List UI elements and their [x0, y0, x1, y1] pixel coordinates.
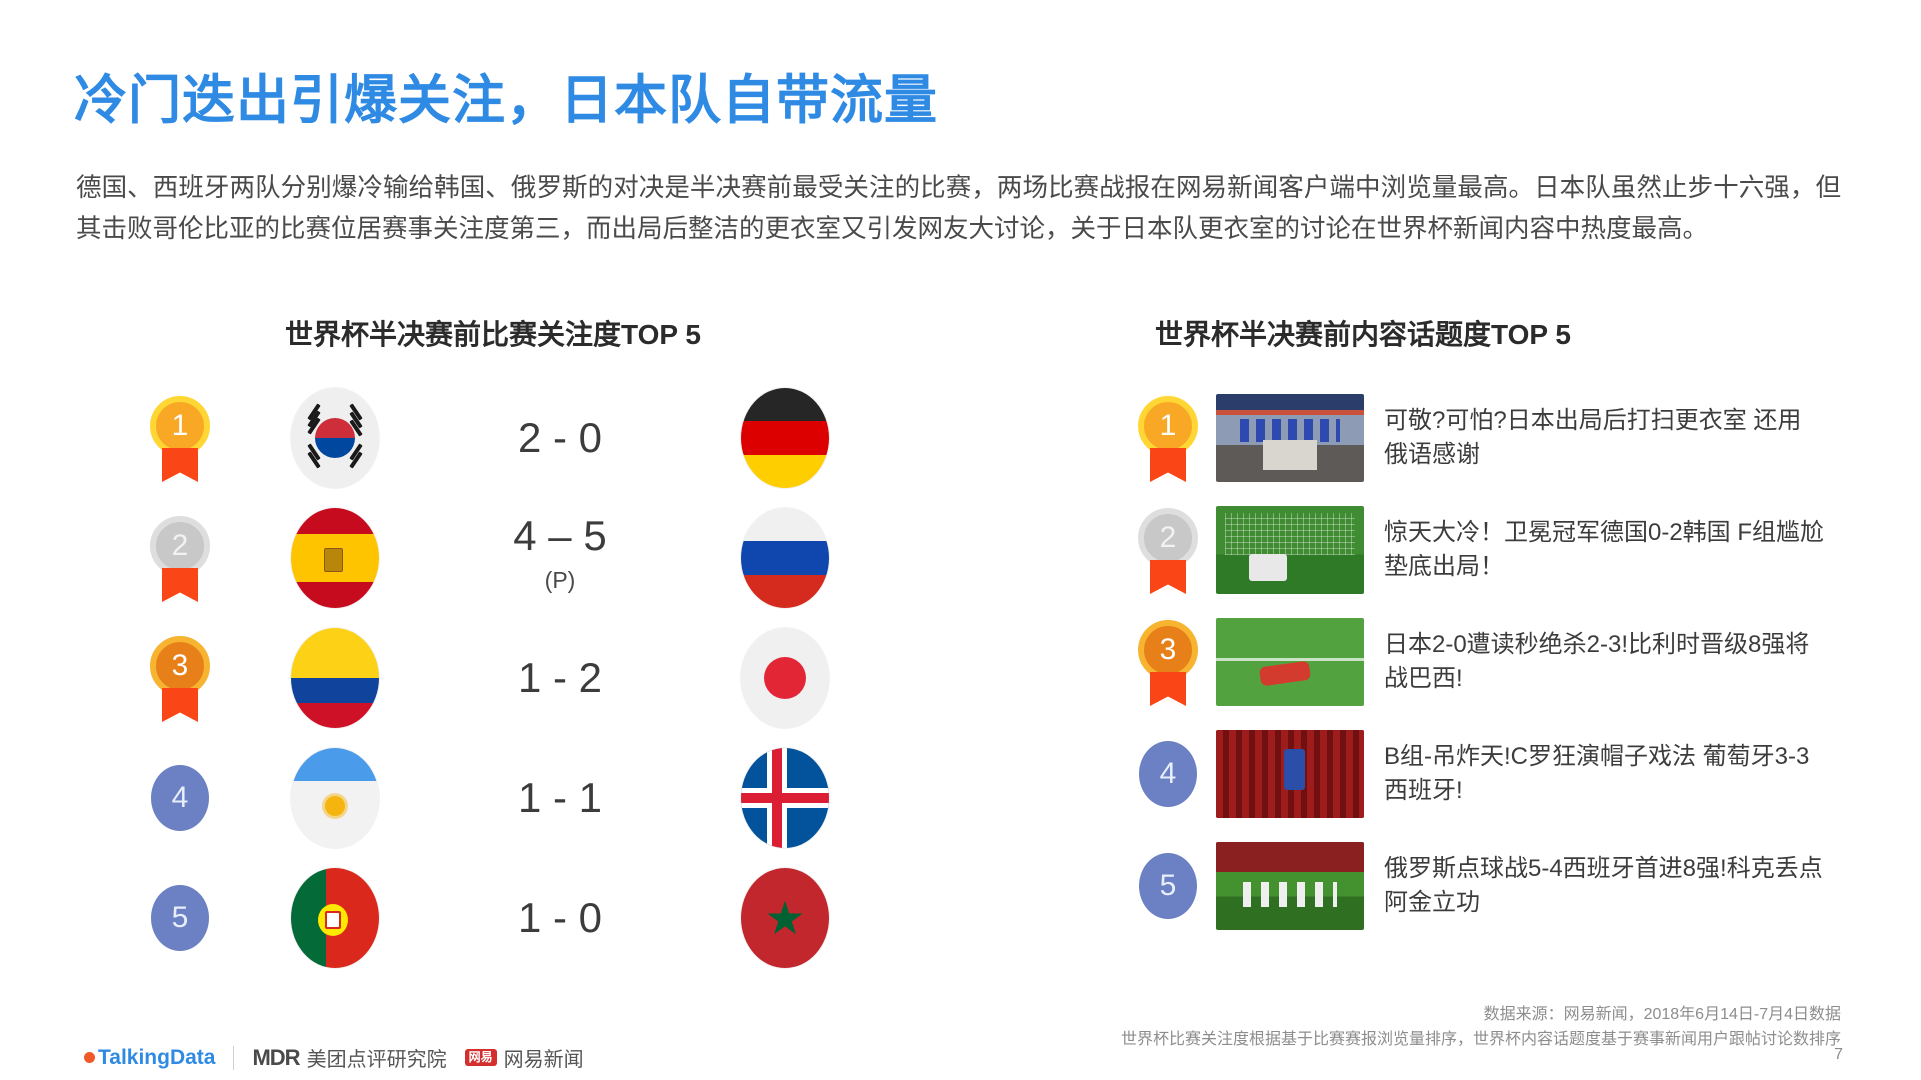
ribbon-icon: [162, 568, 198, 602]
home-flag-cell: [240, 508, 430, 608]
rank-cell: 1: [1120, 396, 1216, 480]
logo-mdr-label: 美团点评研究院: [307, 1043, 447, 1072]
rank-cell: 5: [120, 885, 240, 951]
rank-cell: 3: [120, 636, 240, 720]
flag-morocco-icon: ★: [741, 868, 829, 968]
list-item: 1 可敬?可怕?日本出局后打扫更衣室 还用俄语感谢: [1120, 382, 1840, 494]
score-value: 2 - 0: [518, 414, 602, 461]
score-value: 1 - 1: [518, 774, 602, 821]
rank-badge-plain: 5: [1139, 853, 1197, 919]
rank-number: 1: [1138, 396, 1198, 456]
ribbon-icon: [1150, 672, 1186, 706]
rank-cell: 5: [1120, 853, 1216, 919]
logo-talkingdata-label: TalkingData: [98, 1046, 215, 1070]
footer-logos: TalkingData MDR 美团点评研究院 网易 网易新闻: [84, 1043, 584, 1072]
score-value: 1 - 0: [518, 894, 602, 941]
score-cell: 1 - 0: [430, 895, 690, 941]
rank-cell: 2: [120, 516, 240, 600]
ribbon-icon: [162, 448, 198, 482]
logo-mdr: MDR 美团点评研究院: [252, 1043, 446, 1072]
slide-canvas: 冷门迭出引爆关注，日本队自带流量 德国、西班牙两队分别爆冷输给韩国、俄罗斯的对决…: [0, 0, 1921, 1080]
news-headline[interactable]: 俄罗斯点球战5-4西班牙首进8强!科克丢点阿金立功: [1384, 852, 1824, 920]
logo-divider: [233, 1046, 234, 1070]
rank-badge-plain: 5: [151, 885, 209, 951]
page-number: 7: [1834, 1046, 1843, 1064]
rank-number: 1: [150, 396, 210, 456]
away-flag-cell: [690, 388, 880, 488]
source-note: 数据来源：网易新闻，2018年6月14日-7月4日数据 世界杯比赛关注度根据基于…: [1121, 1002, 1841, 1052]
home-flag-cell: [240, 748, 430, 848]
talkingdata-dot-icon: [84, 1052, 95, 1063]
medal-gold-icon: 1: [148, 396, 212, 480]
right-column-heading: 世界杯半决赛前内容话题度TOP 5: [1155, 313, 1571, 353]
score-note: (P): [430, 557, 690, 603]
rank-number: 2: [1138, 508, 1198, 568]
logo-netease-label: 网易新闻: [504, 1043, 584, 1072]
table-row: 4 1 - 1: [120, 738, 880, 858]
flag-south-korea-icon: [291, 388, 379, 488]
score-cell: 2 - 0: [430, 415, 690, 461]
news-headline[interactable]: 日本2-0遭读秒绝杀2-3!比利时晋级8强将战巴西!: [1384, 628, 1824, 696]
medal-bronze-icon: 3: [148, 636, 212, 720]
logo-talkingdata: TalkingData: [84, 1046, 215, 1070]
lede-paragraph: 德国、西班牙两队分别爆冷输给韩国、俄罗斯的对决是半决赛前最受关注的比赛，两场比赛…: [76, 168, 1841, 250]
left-column-heading: 世界杯半决赛前比赛关注度TOP 5: [285, 313, 701, 353]
score-value: 4 – 5: [513, 512, 606, 559]
rank-cell: 1: [120, 396, 240, 480]
flag-germany-icon: [741, 388, 829, 488]
rank-number: 3: [1138, 620, 1198, 680]
rank-number: 2: [150, 516, 210, 576]
flag-portugal-icon: [291, 868, 379, 968]
rank-badge-plain: 4: [151, 765, 209, 831]
news-thumbnail: [1216, 842, 1364, 930]
rank-cell: 4: [120, 765, 240, 831]
news-thumbnail: [1216, 618, 1364, 706]
away-flag-cell: [690, 748, 880, 848]
list-item: 2 惊天大冷！卫冕冠军德国0-2韩国 F组尴尬垫底出局！: [1120, 494, 1840, 606]
flag-iceland-icon: [741, 748, 829, 848]
match-list: 1 2 -: [120, 378, 880, 978]
home-flag-cell: [240, 388, 430, 488]
home-flag-cell: [240, 628, 430, 728]
score-value: 1 - 2: [518, 654, 602, 701]
news-thumbnail: [1216, 506, 1364, 594]
score-cell: 1 - 2: [430, 655, 690, 701]
list-item: 4 B组-吊炸天!C罗狂演帽子戏法 葡萄牙3-3西班牙!: [1120, 718, 1840, 830]
home-flag-cell: [240, 868, 430, 968]
ribbon-icon: [1150, 560, 1186, 594]
away-flag-cell: ★: [690, 868, 880, 968]
ribbon-icon: [162, 688, 198, 722]
logo-netease-mark: 网易: [465, 1049, 497, 1066]
medal-gold-icon: 1: [1136, 396, 1200, 480]
flag-japan-icon: [741, 628, 829, 728]
flag-russia-icon: [741, 508, 829, 608]
score-cell: 1 - 1: [430, 775, 690, 821]
flag-argentina-icon: [291, 748, 379, 848]
rank-cell: 3: [1120, 620, 1216, 704]
rank-cell: 2: [1120, 508, 1216, 592]
list-item: 5 俄罗斯点球战5-4西班牙首进8强!科克丢点阿金立功: [1120, 830, 1840, 942]
news-list: 1 可敬?可怕?日本出局后打扫更衣室 还用俄语感谢 2 惊天大冷！卫冕冠军德国0…: [1120, 382, 1840, 942]
ribbon-icon: [1150, 448, 1186, 482]
score-cell: 4 – 5 (P): [430, 513, 690, 603]
news-thumbnail: [1216, 730, 1364, 818]
news-headline[interactable]: 可敬?可怕?日本出局后打扫更衣室 还用俄语感谢: [1384, 404, 1824, 472]
news-thumbnail: [1216, 394, 1364, 482]
flag-spain-icon: [291, 508, 379, 608]
flag-colombia-icon: [291, 628, 379, 728]
source-line-2: 世界杯比赛关注度根据基于比赛赛报浏览量排序，世界杯内容话题度基于赛事新闻用户跟帖…: [1121, 1027, 1841, 1052]
list-item: 3 日本2-0遭读秒绝杀2-3!比利时晋级8强将战巴西!: [1120, 606, 1840, 718]
away-flag-cell: [690, 508, 880, 608]
table-row: 1 2 -: [120, 378, 880, 498]
table-row: 5 1 - 0 ★: [120, 858, 880, 978]
table-row: 3 1 - 2: [120, 618, 880, 738]
rank-badge-plain: 4: [1139, 741, 1197, 807]
table-row: 2 4 – 5 (P): [120, 498, 880, 618]
page-title: 冷门迭出引爆关注，日本队自带流量: [74, 58, 938, 134]
medal-silver-icon: 2: [148, 516, 212, 600]
medal-bronze-icon: 3: [1136, 620, 1200, 704]
rank-cell: 4: [1120, 741, 1216, 807]
away-flag-cell: [690, 628, 880, 728]
logo-netease: 网易 网易新闻: [465, 1043, 584, 1072]
news-headline[interactable]: 惊天大冷！卫冕冠军德国0-2韩国 F组尴尬垫底出局！: [1384, 516, 1824, 584]
logo-mdr-mark: MDR: [252, 1045, 299, 1071]
medal-silver-icon: 2: [1136, 508, 1200, 592]
source-line-1: 数据来源：网易新闻，2018年6月14日-7月4日数据: [1121, 1002, 1841, 1027]
news-headline[interactable]: B组-吊炸天!C罗狂演帽子戏法 葡萄牙3-3西班牙!: [1384, 740, 1824, 808]
rank-number: 3: [150, 636, 210, 696]
